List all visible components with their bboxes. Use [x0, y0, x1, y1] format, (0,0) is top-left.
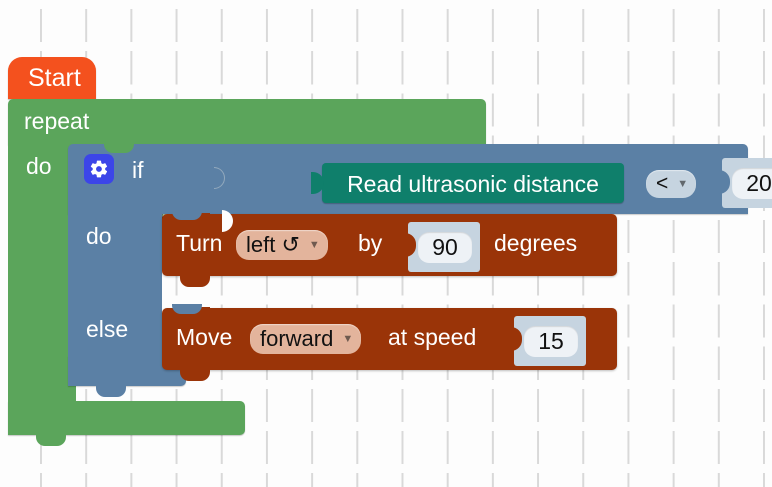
number-field-90[interactable]: 90 — [418, 232, 472, 263]
repeat-label: repeat — [24, 110, 89, 133]
start-block[interactable]: Start — [8, 57, 96, 99]
chevron-down-icon: ▼ — [677, 179, 688, 190]
if-block-bottom-notch — [96, 386, 126, 397]
turn-by-label: by — [358, 232, 382, 255]
if-else-statement-notch — [172, 304, 202, 314]
number-field-15[interactable]: 15 — [524, 326, 578, 357]
comparison-block[interactable]: Read ultrasonic distance < ▼ 20 — [234, 150, 748, 214]
sensor-block-label: Read ultrasonic distance — [322, 171, 624, 198]
if-do-statement-notch — [172, 210, 202, 220]
if-label: if — [132, 159, 144, 182]
repeat-statement-notch — [104, 143, 134, 153]
start-block-label: Start — [28, 66, 81, 91]
number-field-20[interactable]: 20 — [732, 168, 772, 199]
repeat-block-spine — [8, 143, 76, 415]
move-direction-dropdown[interactable]: forward ▼ — [250, 324, 361, 354]
move-block-bottom-notch — [180, 370, 210, 381]
chevron-down-icon: ▼ — [309, 240, 320, 251]
comparison-operator-dropdown[interactable]: < ▼ — [646, 170, 696, 198]
repeat-block-bottom-notch — [36, 435, 66, 446]
turn-verb-label: Turn — [176, 232, 222, 255]
comparison-operator-value: < — [656, 172, 668, 196]
move-at-speed-label: at speed — [388, 326, 476, 349]
blockly-workspace[interactable]: Start repeat while ▼ do true ▼ — [0, 0, 772, 487]
number-block-15[interactable]: 15 — [514, 316, 586, 366]
read-ultrasonic-distance-block[interactable]: Read ultrasonic distance — [322, 163, 624, 203]
turn-direction-value: left ↺ — [246, 232, 300, 258]
gear-icon[interactable] — [84, 154, 114, 184]
turn-direction-dropdown[interactable]: left ↺ ▼ — [236, 230, 328, 260]
if-else-label: else — [86, 318, 128, 341]
if-else-block[interactable]: if do else Read ultrasonic distance < ▼ … — [68, 144, 748, 416]
move-direction-value: forward — [260, 326, 333, 352]
if-do-label: do — [86, 225, 112, 248]
turn-unit-label: degrees — [494, 232, 577, 255]
chevron-down-icon: ▼ — [342, 334, 353, 345]
repeat-do-label: do — [26, 155, 52, 178]
turn-block-bottom-notch — [180, 276, 210, 287]
number-block-90[interactable]: 90 — [408, 222, 480, 272]
move-block[interactable]: Move forward ▼ at speed 15 — [162, 308, 617, 370]
move-verb-label: Move — [176, 326, 232, 349]
